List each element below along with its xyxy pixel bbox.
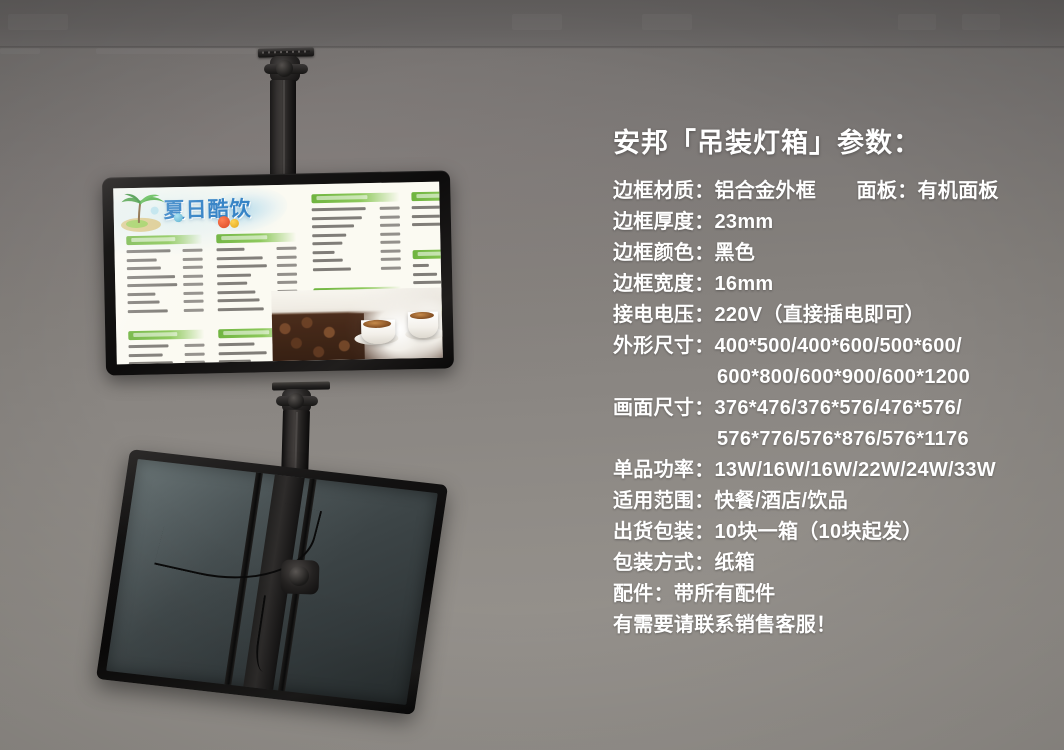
spec-list: 边框材质：铝合金外框 面板：有机面板边框厚度：23mm边框颜色：黑色边框宽度：1…	[613, 176, 1053, 641]
spec-line: 边框材质：铝合金外框 面板：有机面板	[613, 176, 1053, 207]
spec-line: 包装方式：纸箱	[613, 548, 1053, 579]
spec-title: 安邦「吊装灯箱」参数：	[613, 127, 1053, 159]
spec-line: 576*776/576*876/576*1176	[613, 424, 1053, 455]
spec-line: 配件：带所有配件	[613, 579, 1053, 610]
spec-line: 单品功率：13W/16W/16W/22W/24W/33W	[613, 455, 1053, 486]
spec-line: 600*800/600*900/600*1200	[613, 362, 1053, 393]
spec-line: 出货包装：10块一箱（10块起发）	[613, 517, 1053, 548]
spec-panel: 安邦「吊装灯箱」参数： 边框材质：铝合金外框 面板：有机面板边框厚度：23mm边…	[613, 127, 1053, 641]
spec-line: 边框颜色：黑色	[613, 238, 1053, 269]
spec-line: 接电电压：220V（直接插电即可）	[613, 300, 1053, 331]
spec-line: 外形尺寸：400*500/400*600/500*600/	[613, 331, 1053, 362]
spec-line: 有需要请联系销售客服！	[613, 610, 1053, 641]
spec-line: 画面尺寸：376*476/376*576/476*576/	[613, 393, 1053, 424]
product-photo-stage: 夏日酷饮	[0, 0, 1064, 750]
spec-line: 边框宽度：16mm	[613, 269, 1053, 300]
spec-line: 适用范围：快餐/酒店/饮品	[613, 486, 1053, 517]
spec-line: 边框厚度：23mm	[613, 207, 1053, 238]
